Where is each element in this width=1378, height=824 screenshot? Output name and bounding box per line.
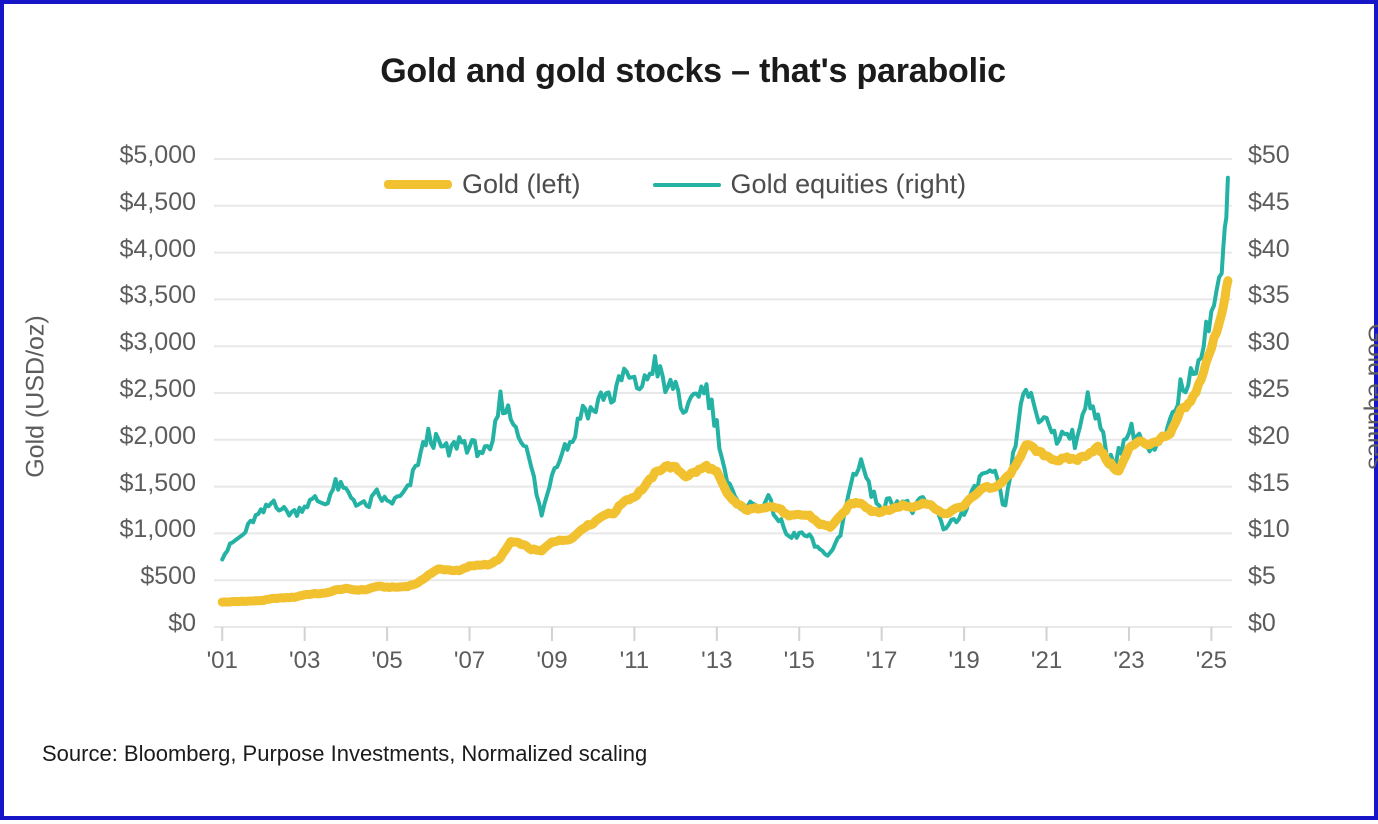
legend-label-gold-equities: Gold equities (right) bbox=[731, 169, 967, 200]
y-axis-left-tick-label: $4,500 bbox=[36, 190, 196, 215]
x-axis-tick-label: '01 bbox=[177, 649, 267, 673]
x-axis-tick-label: '07 bbox=[425, 649, 515, 673]
y-axis-left-tick-label: $2,000 bbox=[36, 424, 196, 449]
x-axis-tick-label: '11 bbox=[589, 649, 679, 673]
y-axis-right-tick-label: $25 bbox=[1248, 377, 1378, 402]
y-axis-right-title: Gold equities bbox=[1362, 237, 1378, 557]
legend-label-gold: Gold (left) bbox=[462, 169, 581, 200]
figure-border: Gold and gold stocks – that's parabolic … bbox=[0, 0, 1378, 820]
y-axis-right-tick-label: $40 bbox=[1248, 237, 1378, 262]
x-axis-tick-label: '13 bbox=[672, 649, 762, 673]
source-note: Source: Bloomberg, Purpose Investments, … bbox=[42, 741, 647, 767]
legend-swatch-teal-icon bbox=[653, 183, 721, 187]
x-axis-tick-label: '25 bbox=[1166, 649, 1256, 673]
y-axis-right-tick-label: $20 bbox=[1248, 424, 1378, 449]
y-axis-left-tick-label: $3,000 bbox=[36, 330, 196, 355]
y-axis-left-tick-label: $1,500 bbox=[36, 471, 196, 496]
y-axis-right-tick-label: $30 bbox=[1248, 330, 1378, 355]
series-lines bbox=[222, 178, 1228, 602]
x-axis-tick-label: '09 bbox=[507, 649, 597, 673]
y-axis-right-tick-label: $45 bbox=[1248, 190, 1378, 215]
y-axis-right-tick-label: $35 bbox=[1248, 283, 1378, 308]
legend-item-gold: Gold (left) bbox=[384, 169, 581, 200]
x-axis-tick-label: '15 bbox=[754, 649, 844, 673]
x-axis-tick-label: '23 bbox=[1084, 649, 1174, 673]
x-tick-marks bbox=[222, 627, 1211, 641]
y-axis-right-tick-label: $15 bbox=[1248, 471, 1378, 496]
y-axis-right-tick-label: $50 bbox=[1248, 143, 1378, 168]
x-axis-tick-label: '21 bbox=[1002, 649, 1092, 673]
x-axis-tick-label: '05 bbox=[342, 649, 432, 673]
x-axis-tick-label: '17 bbox=[837, 649, 927, 673]
y-axis-right-tick-label: $5 bbox=[1248, 564, 1378, 589]
gridlines bbox=[214, 159, 1232, 627]
x-axis-tick-label: '03 bbox=[260, 649, 350, 673]
legend-swatch-gold-icon bbox=[384, 180, 452, 189]
legend-item-gold-equities: Gold equities (right) bbox=[653, 169, 967, 200]
y-axis-left-title: Gold (USD/oz) bbox=[22, 237, 51, 557]
y-axis-left-tick-label: $5,000 bbox=[36, 143, 196, 168]
y-axis-left-tick-label: $2,500 bbox=[36, 377, 196, 402]
y-axis-left-tick-label: $3,500 bbox=[36, 283, 196, 308]
x-axis-tick-label: '19 bbox=[919, 649, 1009, 673]
y-axis-left-tick-label: $4,000 bbox=[36, 237, 196, 262]
y-axis-left-tick-label: $1,000 bbox=[36, 517, 196, 542]
chart-canvas bbox=[4, 4, 1378, 824]
y-axis-right-tick-label: $10 bbox=[1248, 517, 1378, 542]
chart-legend: Gold (left) Gold equities (right) bbox=[384, 169, 966, 200]
y-axis-right-tick-label: $0 bbox=[1248, 611, 1378, 636]
y-axis-left-tick-label: $0 bbox=[36, 611, 196, 636]
y-axis-left-tick-label: $500 bbox=[36, 564, 196, 589]
series-line-gold-equities bbox=[222, 178, 1228, 560]
